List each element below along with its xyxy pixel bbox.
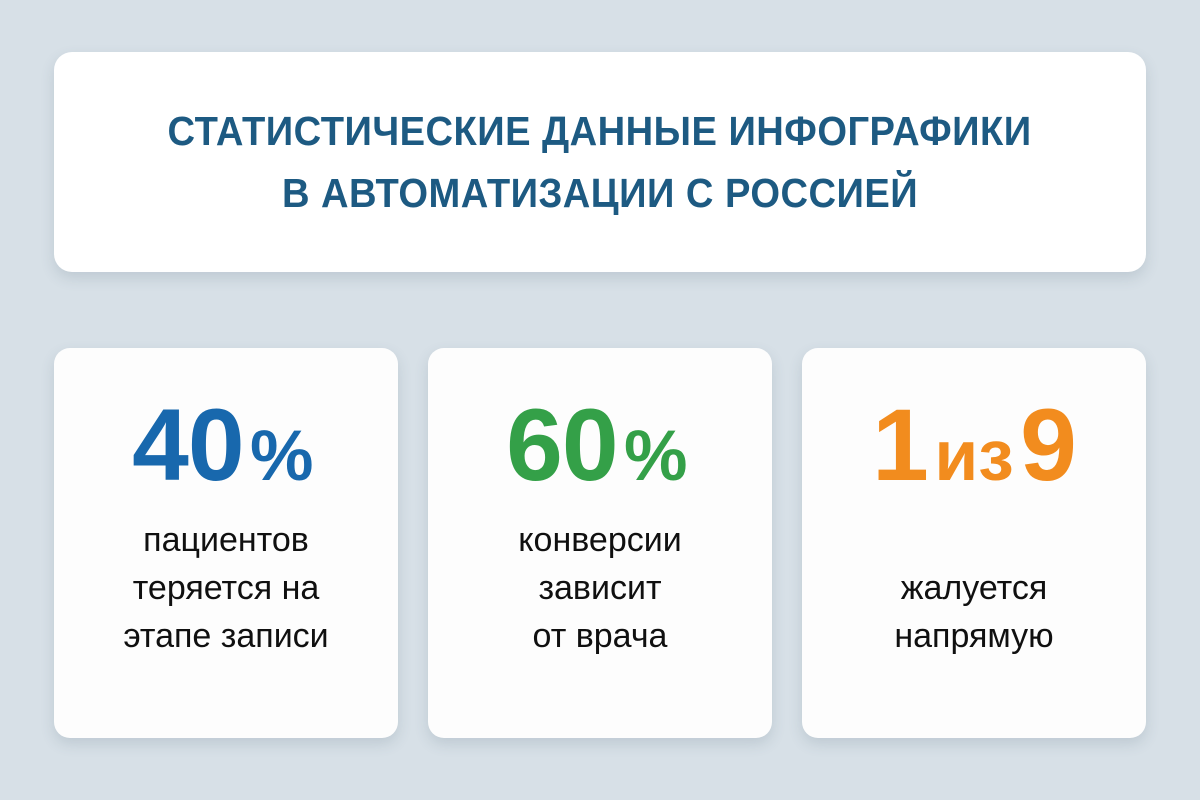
stat-caption-1-line-3: этапе записи [123, 612, 328, 660]
stat-value-1-unit: % [250, 421, 313, 492]
stat-caption-2-line-3: от врача [518, 612, 681, 660]
stat-caption-2-line-1: конверсии [518, 516, 681, 564]
stat-caption-1: пациентов теряется на этапе записи [123, 516, 328, 660]
stat-value-1: 40% [132, 394, 320, 496]
stat-caption-2: конверсии зависит от врача [518, 516, 681, 660]
page-title-line-1: СТАТИСТИЧЕСКИЕ ДАННЫЕ ИНФОГРАФИКИ [168, 100, 1032, 162]
stat-value-2: 60% [506, 394, 694, 496]
stat-value-3-denominator: 9 [1020, 394, 1076, 496]
stat-value-1-number: 40 [132, 394, 243, 496]
stat-caption-2-line-2: зависит [518, 564, 681, 612]
infographic-root: СТАТИСТИЧЕСКИЕ ДАННЫЕ ИНФОГРАФИКИ В АВТО… [0, 0, 1200, 800]
stat-caption-3: жалуется напрямую [894, 564, 1053, 660]
stat-value-3: 1из9 [872, 394, 1076, 496]
stat-caption-3-line-2: напрямую [894, 612, 1053, 660]
stat-value-3-unit: из [934, 421, 1013, 492]
stat-value-2-unit: % [624, 421, 687, 492]
stat-card-1: 40% пациентов теряется на этапе записи [54, 348, 398, 738]
page-title-line-2: В АВТОМАТИЗАЦИИ С РОССИЕЙ [282, 162, 918, 224]
stat-value-2-number: 60 [506, 394, 617, 496]
stat-caption-1-line-2: теряется на [123, 564, 328, 612]
stat-card-2: 60% конверсии зависит от врача [428, 348, 772, 738]
stat-card-3: 1из9 жалуется напрямую [802, 348, 1146, 738]
stat-caption-1-line-1: пациентов [123, 516, 328, 564]
stats-row: 40% пациентов теряется на этапе записи 6… [54, 348, 1146, 738]
stat-value-3-number: 1 [872, 394, 928, 496]
stat-caption-3-line-1: жалуется [894, 564, 1053, 612]
header-card: СТАТИСТИЧЕСКИЕ ДАННЫЕ ИНФОГРАФИКИ В АВТО… [54, 52, 1146, 272]
